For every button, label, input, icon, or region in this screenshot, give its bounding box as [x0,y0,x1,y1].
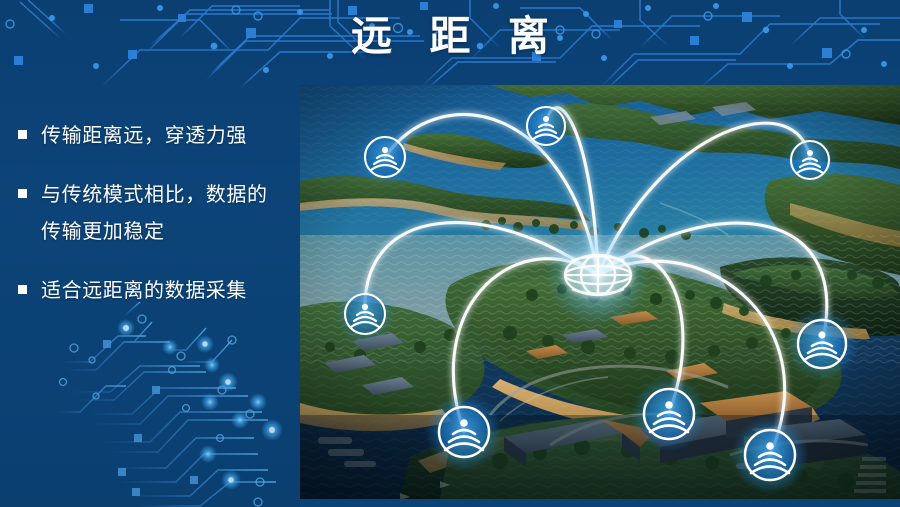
square-bullet-icon [18,285,27,294]
aerial-island-illustration [300,85,900,499]
bullet-text: 与传统模式相比，数据的 传输更加稳定 [41,177,268,251]
bullet-list: 传输距离远，穿透力强 与传统模式相比，数据的 传输更加稳定 适合远距离的数据采集 [18,118,300,332]
list-item: 传输距离远，穿透力强 [18,118,300,155]
square-bullet-icon [18,189,27,198]
list-item: 适合远距离的数据采集 [18,273,300,310]
square-bullet-icon [18,130,27,139]
photo-bottom-strip [300,499,900,507]
bullet-text: 传输距离远，穿透力强 [41,118,247,155]
slide-root: 远 距 离 传输距离远，穿透力强 与传统模式相比，数据的 传输更加稳定 适合远距… [0,0,900,507]
network-photo-panel [300,85,900,499]
page-title: 远 距 离 [0,14,900,59]
bullet-text: 适合远距离的数据采集 [41,273,247,310]
list-item: 与传统模式相比，数据的 传输更加稳定 [18,177,300,251]
